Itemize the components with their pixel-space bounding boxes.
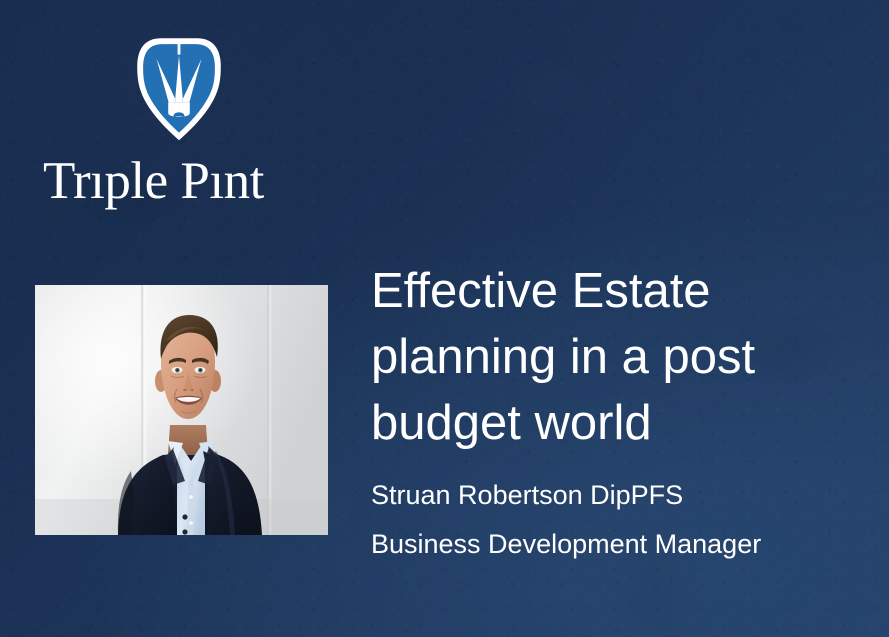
wordmark-segment-3: nt (224, 152, 264, 210)
wordmark-dotless-i-1: ı (90, 152, 104, 210)
brand-wordmark: Trıple Pınt (43, 155, 313, 208)
wordmark-segment-1: Tr (43, 152, 90, 210)
slide-title: Effective Estate planning in a post budg… (371, 258, 841, 456)
slide-title-line-3: budget world (371, 390, 841, 456)
speaker-name: Struan Robertson DipPFS (371, 471, 841, 520)
brand-logo: Trıple Pınt (43, 36, 313, 208)
speaker-role: Business Development Manager (371, 520, 841, 569)
wordmark-segment-2: ple P (104, 152, 209, 210)
speaker-headshot-photo (35, 285, 328, 535)
slide-title-line-2: planning in a post (371, 324, 841, 390)
slide-title-line-1: Effective Estate (371, 258, 841, 324)
triple-point-shield-crown-icon (135, 36, 223, 141)
wordmark-dotless-i-2: ı (209, 152, 223, 210)
speaker-byline: Struan Robertson DipPFS Business Develop… (371, 471, 841, 569)
presentation-slide: Trıple Pınt (0, 0, 889, 637)
